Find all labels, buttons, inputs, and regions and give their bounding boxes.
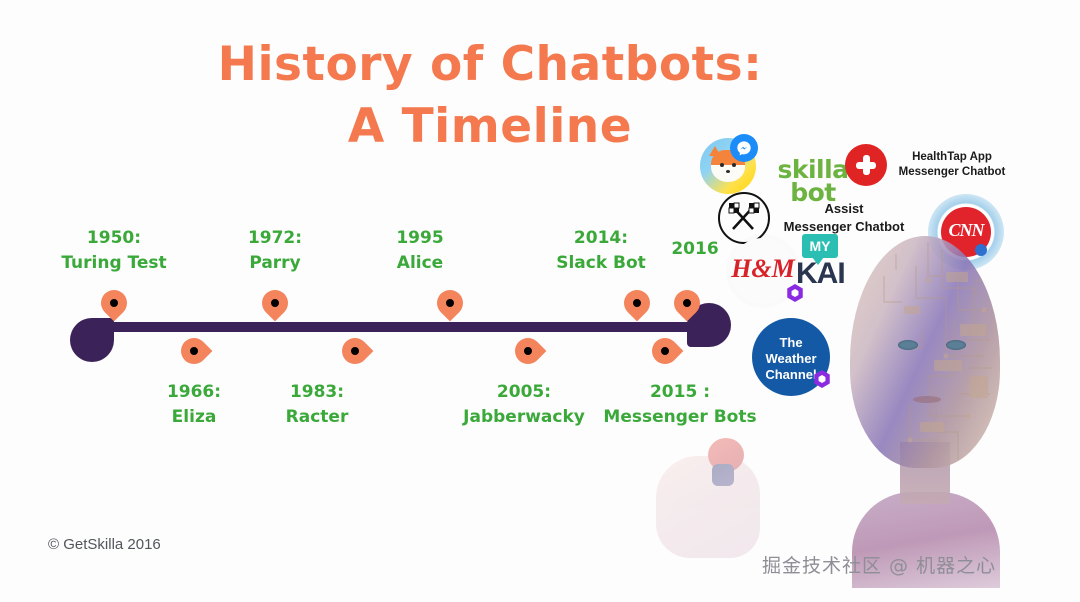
- timeline-label-1983: 1983:Racter: [286, 380, 349, 430]
- timeline-year: 1995: [396, 226, 443, 251]
- timeline-event-name: Racter: [286, 405, 349, 430]
- android-lips: [913, 396, 941, 403]
- android-eye-left: [898, 340, 918, 350]
- timeline-bar: [80, 322, 710, 332]
- timeline-year: 1950:: [61, 226, 166, 251]
- timeline-year: 2005:: [463, 380, 585, 405]
- timeline-label-2014: 2014:Slack Bot: [556, 226, 646, 276]
- timeline-event-name: Alice: [396, 251, 443, 276]
- hand-fist: [656, 456, 760, 558]
- timeline-year: 2016: [671, 237, 718, 262]
- timeline-label-1995: 1995Alice: [396, 226, 443, 276]
- robotic-hand-image: [640, 430, 780, 570]
- timeline-pin-2014[interactable]: [619, 285, 656, 322]
- twc-line-2: Weather: [752, 351, 830, 367]
- timeline-year: 2015 :: [603, 380, 756, 405]
- twc-line-1: The: [752, 335, 830, 351]
- timeline-year: 1972:: [248, 226, 302, 251]
- timeline-year: 1983:: [286, 380, 349, 405]
- assist-label: Assist Messenger Chatbot: [770, 200, 918, 236]
- timeline-pin-1972[interactable]: [257, 285, 294, 322]
- timeline-label-2015: 2015 :Messenger Bots: [603, 380, 756, 430]
- timeline-pin-1995[interactable]: [432, 285, 469, 322]
- copyright-notice: © GetSkilla 2016: [48, 536, 161, 553]
- timeline-pin-1983[interactable]: [337, 333, 374, 370]
- timeline-event-name: Jabberwacky: [463, 405, 585, 430]
- timeline-label-1966: 1966:Eliza: [167, 380, 221, 430]
- timeline-year: 2014:: [556, 226, 646, 251]
- title-line-2: A Timeline: [0, 96, 980, 158]
- slide-canvas: History of Chatbots: A Timeline skilla b…: [0, 0, 1080, 602]
- android-eye-right: [946, 340, 966, 350]
- hm-wordmark: H&M: [730, 254, 796, 284]
- page-title: History of Chatbots: A Timeline: [0, 34, 980, 158]
- watermark: 掘金技术社区 @ 机器之心: [762, 551, 996, 578]
- crossed-flags-icon: [718, 192, 770, 244]
- timeline-label-2016: 2016: [671, 237, 718, 262]
- timeline-event-name: Messenger Bots: [603, 405, 756, 430]
- timeline-event-name: Slack Bot: [556, 251, 646, 276]
- android-head: [850, 236, 1000, 468]
- skilla-bot-logo: skilla bot: [776, 158, 850, 204]
- fox-eye-right-icon: [732, 163, 736, 167]
- timeline-pin-1966[interactable]: [176, 333, 213, 370]
- fox-eye-left-icon: [720, 163, 724, 167]
- fox-nose-icon: [726, 170, 730, 173]
- timeline-event-name: Eliza: [167, 405, 221, 430]
- healthtap-line-1: HealthTap App: [892, 150, 1012, 165]
- cross-bar-vertical: [863, 155, 870, 175]
- ai-android-head-image: [832, 236, 1016, 584]
- fox-avatar-icon: [700, 138, 756, 194]
- timeline-label-1950: 1950:Turing Test: [61, 226, 166, 276]
- timeline-event-name: Parry: [248, 251, 302, 276]
- hand-device: [712, 464, 734, 486]
- title-line-1: History of Chatbots:: [218, 37, 763, 92]
- timeline-pin-1950[interactable]: [96, 285, 133, 322]
- healthtap-line-2: Messenger Chatbot: [892, 165, 1012, 180]
- assist-line-1: Assist: [770, 200, 918, 218]
- red-cross-icon: [845, 144, 887, 186]
- timeline-pin-2015[interactable]: [647, 333, 684, 370]
- timeline-label-2005: 2005:Jabberwacky: [463, 380, 585, 430]
- timeline-year: 1966:: [167, 380, 221, 405]
- facebook-messenger-icon: [730, 134, 758, 162]
- healthtap-label: HealthTap App Messenger Chatbot: [892, 150, 1012, 180]
- timeline-event-name: Turing Test: [61, 251, 166, 276]
- timeline-label-1972: 1972:Parry: [248, 226, 302, 276]
- timeline-pin-2005[interactable]: [510, 333, 547, 370]
